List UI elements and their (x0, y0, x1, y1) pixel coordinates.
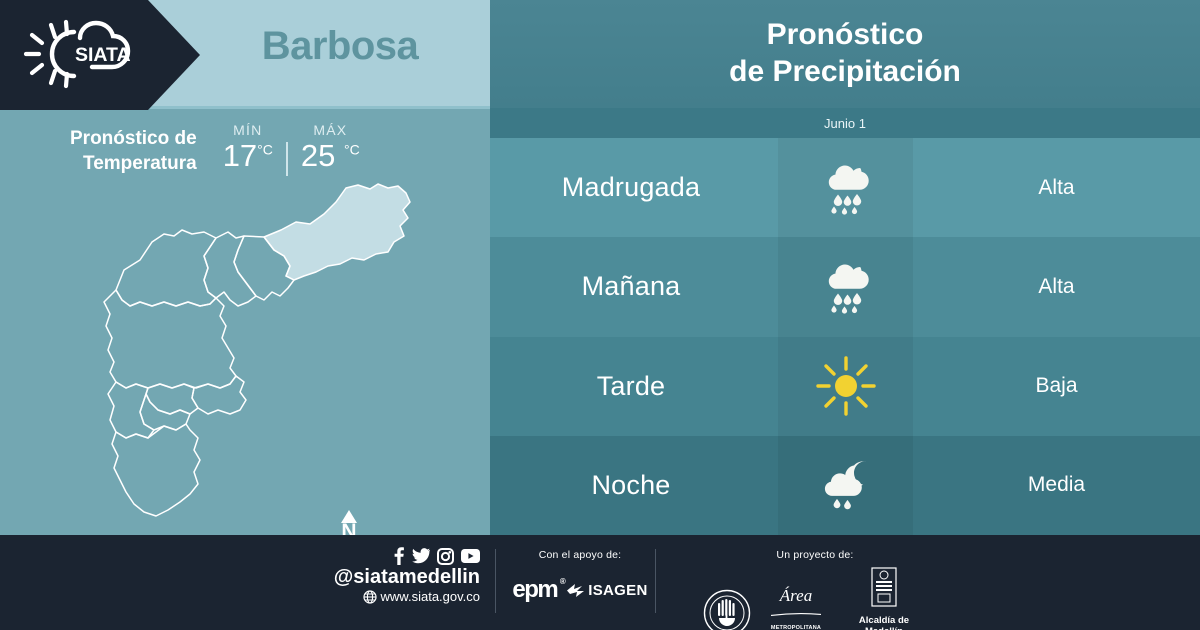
precipitation-title-line1: Pronóstico (729, 17, 961, 54)
compass-north: N (334, 510, 364, 535)
area-underline-icon (770, 612, 822, 617)
temperature-min: MÍN 17°C (223, 122, 273, 173)
isagen-logo[interactable]: ISAGEN (567, 582, 647, 599)
temperature-max-value: 25 °C (301, 140, 360, 173)
forecast-row[interactable]: Madrugada (490, 138, 1200, 237)
forecast-probability-cell: Alta (913, 237, 1200, 336)
moon-cloud-rain-icon (814, 453, 878, 517)
precipitation-title-line2: de Precipitación (729, 54, 961, 91)
area-name: Área (765, 587, 827, 604)
website-label: www.siata.gov.co (381, 589, 480, 604)
footer-project-block: Un proyecto de: Área (700, 549, 930, 630)
forecast-row[interactable]: Tarde (490, 337, 1200, 436)
temperature-block: Pronóstico de Temperatura MÍN 17°C MÁX 2… (70, 122, 360, 176)
alcaldia-seal-icon (871, 567, 897, 607)
forecast-period-cell: Mañana (490, 237, 778, 336)
forecast-icon-cell (778, 436, 913, 535)
forecast-date-bar: Junio 1 (490, 108, 1200, 138)
sun-icon (814, 354, 878, 418)
forecast-period-cell: Noche (490, 436, 778, 535)
social-handle[interactable]: @siatamedellin (240, 567, 480, 588)
svg-text:SIATA: SIATA (75, 44, 131, 66)
project-logos: Área METROPOLITANA Valle de Aburrá (700, 567, 930, 630)
instagram-icon[interactable] (437, 548, 454, 565)
forecast-period-cell: Tarde (490, 337, 778, 436)
forecast-probability-label: Baja (1035, 374, 1077, 398)
social-icons (240, 547, 480, 565)
epm-logo[interactable]: epm® (512, 578, 557, 602)
map-region-barbosa (264, 184, 410, 280)
precipitation-header: Pronóstico de Precipitación (490, 0, 1200, 108)
forecast-icon-cell (778, 138, 913, 237)
rain-cloud-icon (814, 255, 878, 319)
temperature-min-unit: °C (257, 142, 273, 158)
facebook-icon[interactable] (393, 547, 405, 565)
temperature-max-number: 25 (301, 138, 335, 173)
footer-social-block: @siatamedellin www.siata.gov.co (240, 547, 480, 604)
forecast-date: Junio 1 (824, 116, 866, 131)
footer-divider-2 (655, 549, 656, 613)
temperature-panel: SIATA Barbosa Pronóstico de Temperatura … (0, 0, 490, 535)
temperature-title-line1: Pronóstico de (70, 126, 197, 151)
udea-seal-icon[interactable] (703, 589, 751, 630)
temperature-min-label: MÍN (223, 122, 273, 138)
forecast-probability-label: Alta (1038, 275, 1074, 299)
isagen-mark-icon (567, 583, 585, 598)
forecast-period-label: Mañana (582, 271, 681, 302)
compass-label: N (334, 522, 364, 535)
temperature-max-unit: °C (344, 142, 360, 158)
alcaldia-logo[interactable]: Alcaldía de Medellín (841, 567, 927, 630)
forecast-period-cell: Madrugada (490, 138, 778, 237)
temperature-min-number: 17 (223, 138, 257, 173)
forecast-icon-cell (778, 237, 913, 336)
temperature-min-value: 17°C (223, 140, 273, 173)
forecast-rows: Madrugada (490, 138, 1200, 535)
precipitation-panel: Pronóstico de Precipitación Junio 1 Madr… (490, 0, 1200, 535)
infographic-canvas: SIATA Barbosa Pronóstico de Temperatura … (0, 0, 1200, 630)
forecast-probability-cell: Media (913, 436, 1200, 535)
twitter-icon[interactable] (412, 548, 430, 564)
globe-icon (363, 590, 377, 604)
support-caption: Con el apoyo de: (505, 549, 655, 561)
temperature-max: MÁX 25 °C (301, 122, 360, 173)
temperature-values: MÍN 17°C MÁX 25 °C (223, 122, 360, 176)
epm-registered-mark: ® (560, 578, 564, 586)
youtube-icon[interactable] (461, 549, 480, 563)
footer-divider-1 (495, 549, 496, 613)
forecast-period-label: Madrugada (562, 172, 700, 203)
footer: @siatamedellin www.siata.gov.co Con el a… (0, 535, 1200, 630)
forecast-probability-label: Alta (1038, 176, 1074, 200)
forecast-icon-cell (778, 337, 913, 436)
epm-label: epm (512, 576, 557, 603)
city-name: Barbosa (200, 24, 480, 69)
alcaldia-label: Alcaldía de Medellín (841, 615, 927, 630)
rain-cloud-icon (814, 156, 878, 220)
area-metropolitana-logo[interactable]: Área METROPOLITANA Valle de Aburrá (765, 587, 827, 630)
precipitation-title: Pronóstico de Precipitación (729, 17, 961, 91)
temperature-title-line2: Temperatura (70, 151, 197, 176)
forecast-period-label: Noche (591, 470, 670, 501)
website-row[interactable]: www.siata.gov.co (240, 589, 480, 604)
forecast-row[interactable]: Mañana (490, 237, 1200, 336)
forecast-probability-cell: Baja (913, 337, 1200, 436)
isagen-label: ISAGEN (588, 582, 647, 599)
temperature-max-label: MÁX (301, 122, 360, 138)
project-caption: Un proyecto de: (700, 549, 930, 561)
temperature-title: Pronóstico de Temperatura (70, 122, 197, 176)
forecast-row[interactable]: Noche Media (490, 436, 1200, 535)
support-logos: epm® ISAGEN (505, 578, 655, 602)
forecast-probability-cell: Alta (913, 138, 1200, 237)
sun-cloud-icon: SIATA (18, 18, 138, 90)
area-sub1: METROPOLITANA (765, 625, 827, 630)
temperature-divider (286, 142, 288, 176)
footer-support-block: Con el apoyo de: epm® ISAGEN (505, 549, 655, 602)
forecast-probability-label: Media (1028, 473, 1085, 497)
forecast-period-label: Tarde (597, 371, 666, 402)
valle-de-aburra-map: N (58, 180, 448, 530)
